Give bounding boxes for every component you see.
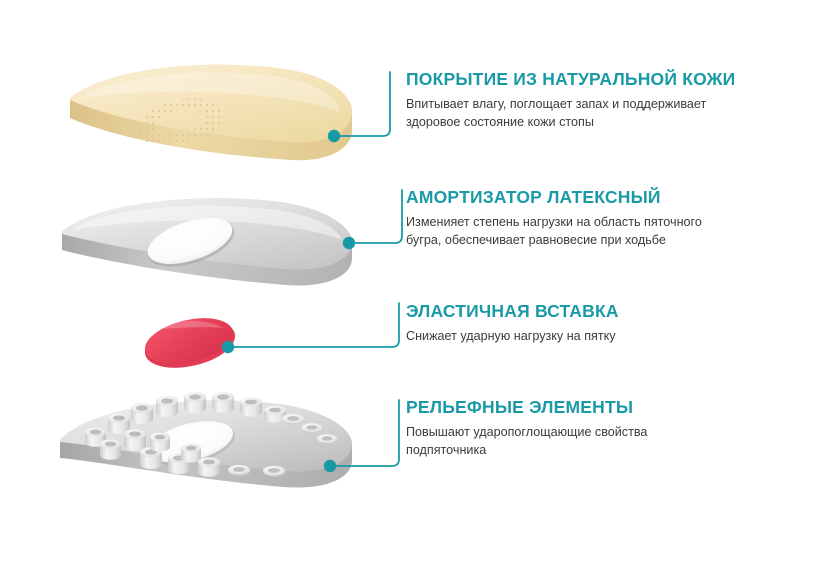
callout-title-relief-elements: РЕЛЬЕФНЫЕ ЭЛЕМЕНТЫ	[406, 396, 647, 418]
layer-relief	[60, 392, 352, 488]
callout-desc-leather-cover: Впитывает влагу, поглощает запах и подде…	[406, 96, 735, 131]
connector-line-2	[349, 190, 402, 243]
infographic-stage: ПОКРЫТИЕ ИЗ НАТУРАЛЬНОЙ КОЖИ Впитывает в…	[0, 0, 816, 564]
callout-desc-line: бугра, обеспечивает равновесие при ходьб…	[406, 232, 702, 250]
callout-desc-relief-elements: Повышают ударопоглощающие свойства подпя…	[406, 424, 647, 459]
connector-dot-4	[324, 460, 336, 472]
callout-desc-line: подпяточника	[406, 442, 647, 460]
layer-latex	[62, 198, 352, 285]
callout-desc-line: Повышают ударопоглощающие свойства	[406, 424, 647, 442]
callout-title-latex-damper: АМОРТИЗАТОР ЛАТЕКСНЫЙ	[406, 186, 702, 208]
connector-dot-1	[328, 130, 340, 142]
connector-dot-3	[222, 341, 234, 353]
callout-desc-line: Изменияет степень нагрузки на область пя…	[406, 214, 702, 232]
callout-desc-line: здоровое состояние кожи стопы	[406, 114, 735, 132]
callout-latex-damper: АМОРТИЗАТОР ЛАТЕКСНЫЙ Изменияет степень …	[406, 186, 702, 249]
callout-desc-line: Снижает ударную нагрузку на пятку	[406, 328, 619, 346]
connector-dot-2	[343, 237, 355, 249]
callout-desc-latex-damper: Изменияет степень нагрузки на область пя…	[406, 214, 702, 249]
callout-title-elastic-insert: ЭЛАСТИЧНАЯ ВСТАВКА	[406, 300, 619, 322]
callout-desc-elastic-insert: Снижает ударную нагрузку на пятку	[406, 328, 619, 346]
callout-elastic-insert: ЭЛАСТИЧНАЯ ВСТАВКА Снижает ударную нагру…	[406, 300, 619, 346]
perforation-pattern	[120, 92, 246, 156]
connector-line-3	[228, 303, 399, 347]
callout-desc-line: Впитывает влагу, поглощает запах и подде…	[406, 96, 735, 114]
callout-title-leather-cover: ПОКРЫТИЕ ИЗ НАТУРАЛЬНОЙ КОЖИ	[406, 68, 735, 90]
callout-relief-elements: РЕЛЬЕФНЫЕ ЭЛЕМЕНТЫ Повышают ударопоглоща…	[406, 396, 647, 459]
callout-leather-cover: ПОКРЫТИЕ ИЗ НАТУРАЛЬНОЙ КОЖИ Впитывает в…	[406, 68, 735, 131]
layer-leather	[70, 65, 352, 161]
